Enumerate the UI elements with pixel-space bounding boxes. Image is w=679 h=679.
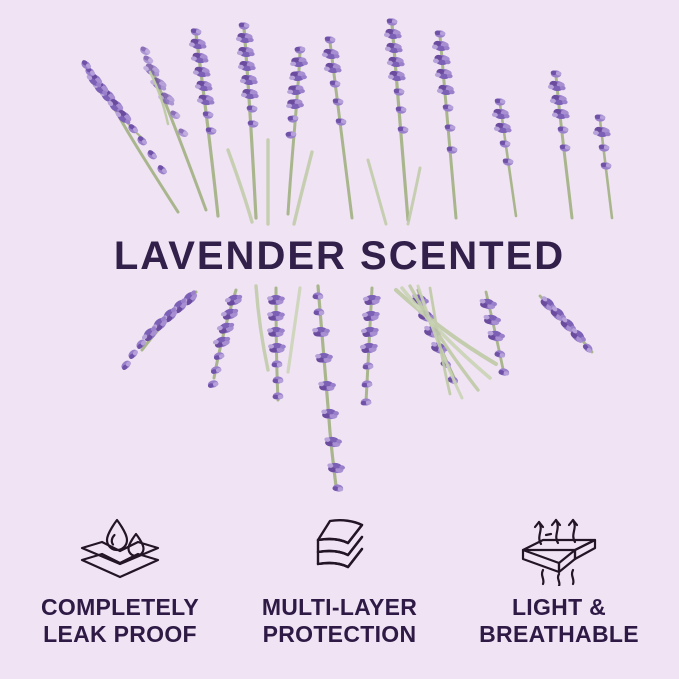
hanging-sprig-center-long xyxy=(312,286,346,492)
stacked-sheets-icon xyxy=(304,516,376,584)
lavender-sprig-right-short xyxy=(492,98,516,216)
lavender-sprig-center-right xyxy=(285,46,308,214)
lavender-sprig-far-right xyxy=(593,114,612,218)
feature-breathable: LIGHT & BREATHABLE xyxy=(453,516,665,647)
lavender-sprig-center xyxy=(236,22,259,218)
hanging-sprig-center-right xyxy=(360,288,381,406)
page-title: LAVENDER SCENTED xyxy=(114,236,565,276)
lavender-sprig-right-outer xyxy=(548,70,572,218)
feature-row: COMPLETELY LEAK PROOF MULTI-LAYER PROTEC… xyxy=(0,516,679,679)
feature-label: COMPLETELY LEAK PROOF xyxy=(41,594,199,647)
hanging-sprig-left xyxy=(207,290,244,389)
product-feature-graphic: LAVENDER SCENTED xyxy=(0,0,679,679)
lavender-sprig-tall-right xyxy=(384,18,409,220)
lavender-sprig-tall-mid xyxy=(322,36,352,218)
feature-label: MULTI-LAYER PROTECTION xyxy=(262,594,417,647)
feature-multi-layer: MULTI-LAYER PROTECTION xyxy=(234,516,446,647)
droplets-on-layers-icon xyxy=(76,516,164,584)
lavender-illustration-bottom xyxy=(0,282,679,502)
hanging-sprig-left-mid xyxy=(267,288,286,400)
airflow-slab-icon xyxy=(515,516,603,584)
headline-banner: LAVENDER SCENTED xyxy=(0,228,679,284)
lavender-sprig-right-tall xyxy=(432,30,458,218)
hanging-sprig-far-right xyxy=(538,294,594,354)
lavender-sprig-center-left xyxy=(188,28,218,216)
hanging-sprig-far-left xyxy=(120,288,200,371)
lavender-illustration-top xyxy=(0,0,679,228)
feature-leak-proof: COMPLETELY LEAK PROOF xyxy=(14,516,226,647)
feature-label: LIGHT & BREATHABLE xyxy=(479,594,639,647)
